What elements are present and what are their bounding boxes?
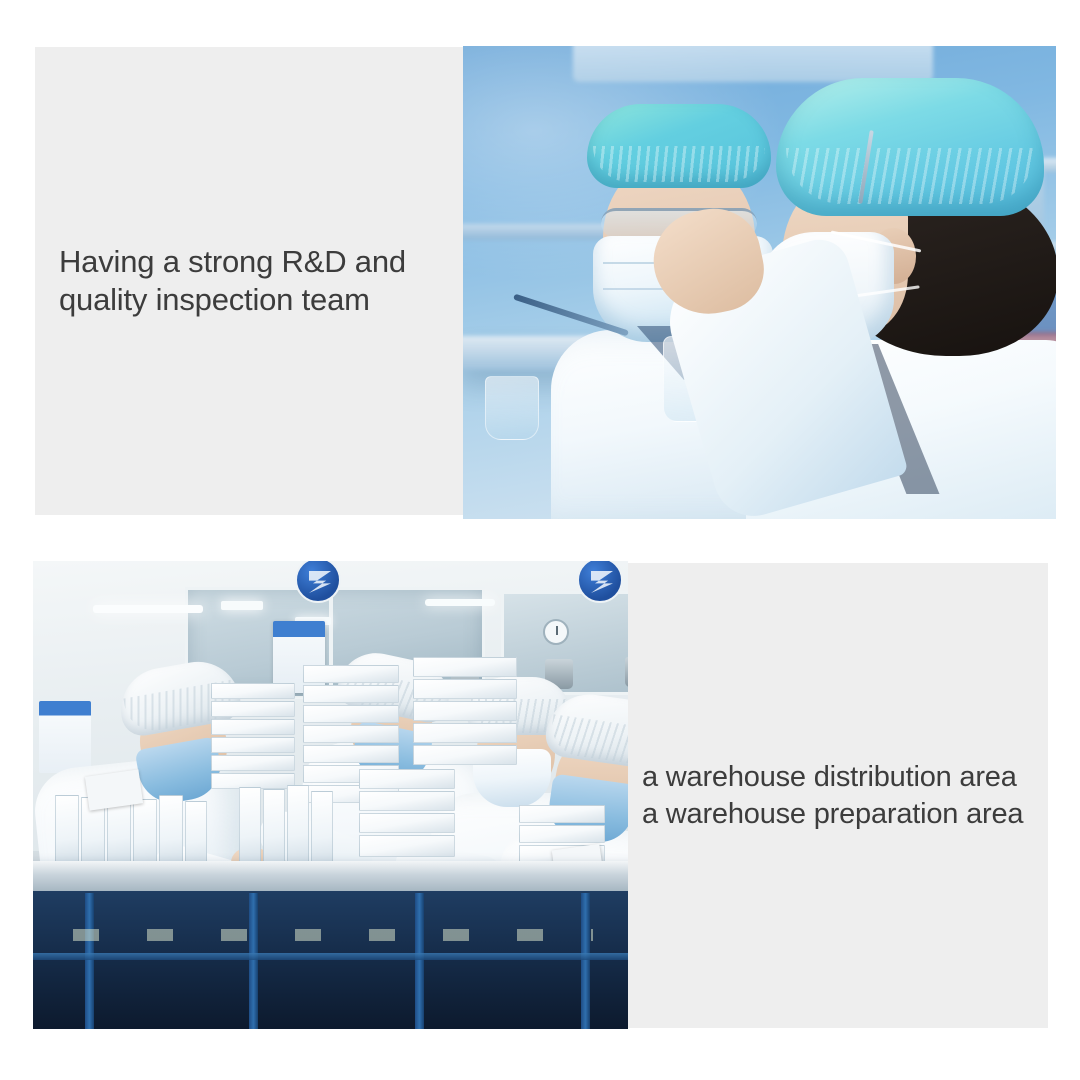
white-hairnet	[543, 689, 628, 771]
wall-clock-icon	[543, 619, 569, 645]
ceiling-light-left	[93, 605, 203, 613]
blue-hairnet-cap	[776, 78, 1044, 216]
steel-work-table-top	[33, 861, 628, 895]
window-ceiling-light-1	[221, 601, 263, 610]
lab-rd-quality-inspection-photo	[463, 46, 1056, 519]
section-rnd-quality: Having a strong R&D and quality inspecti…	[0, 0, 1080, 560]
table-leg	[249, 893, 258, 1029]
table-cross-bar	[33, 953, 628, 960]
caption-text-rnd: Having a strong R&D and quality inspecti…	[35, 243, 406, 319]
warehouse-packing-photo	[33, 561, 628, 1029]
table-leg	[581, 893, 590, 1029]
caption-text-warehouse: a warehouse distribution area a warehous…	[628, 759, 1023, 832]
lab-technician-profile	[712, 72, 1056, 519]
under-table-area	[33, 891, 628, 1029]
section-warehouse: a warehouse distribution area a warehous…	[0, 560, 1080, 1080]
product-detail-page: Having a strong R&D and quality inspecti…	[0, 0, 1080, 1080]
table-leg	[85, 893, 94, 1029]
table-leg	[415, 893, 424, 1029]
ceiling-light-center	[425, 599, 495, 606]
caption-panel-rnd: Having a strong R&D and quality inspecti…	[35, 47, 465, 515]
lab-glass-flask	[485, 376, 539, 440]
under-shelf-items	[73, 929, 593, 941]
caption-panel-warehouse: a warehouse distribution area a warehous…	[628, 563, 1048, 1028]
